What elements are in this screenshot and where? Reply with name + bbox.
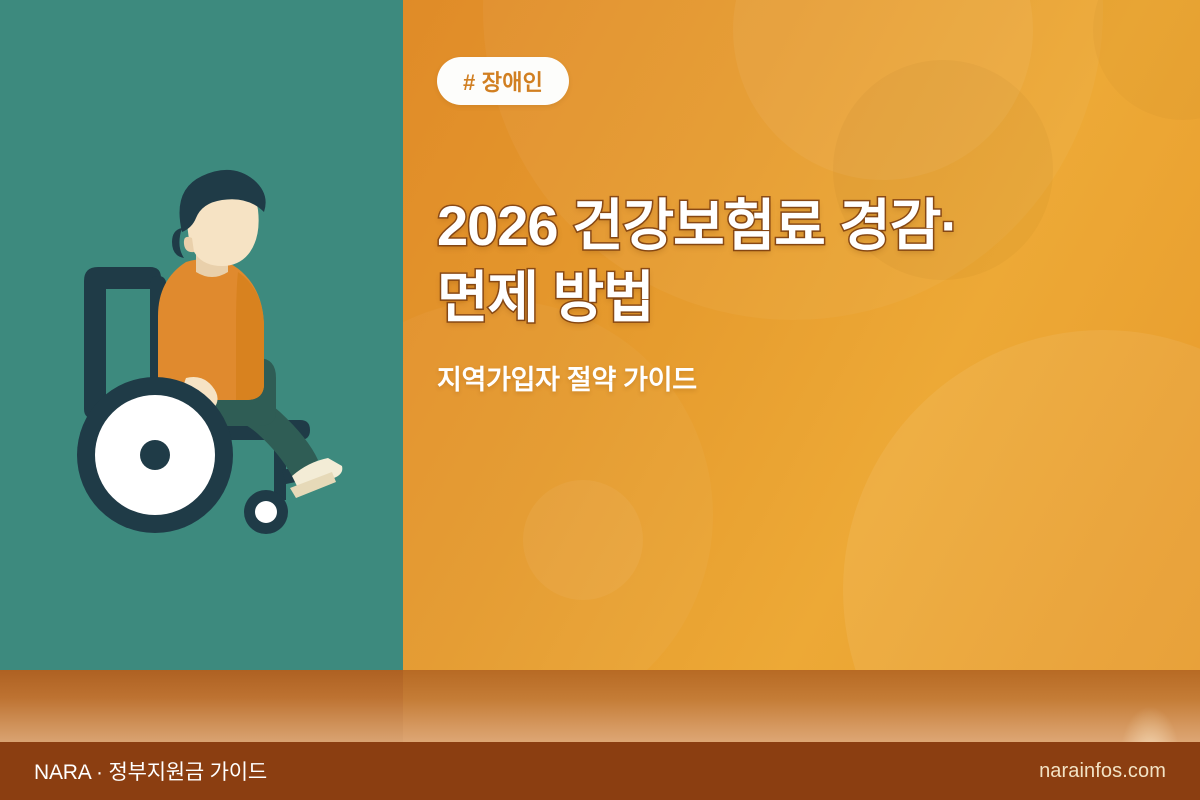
footer-site-url[interactable]: narainfos.com xyxy=(1039,760,1166,783)
bottom-gradient-band-right xyxy=(403,670,1200,742)
page-title: 2026 건강보험료 경감·면제 방법 xyxy=(437,190,997,333)
footer-bar: NARA · 정부지원금 가이드 narainfos.com xyxy=(0,742,1200,800)
card-area: # 장애인 2026 건강보험료 경감·면제 방법 지역가입자 절약 가이드 xyxy=(0,0,1200,742)
person-in-wheelchair-icon xyxy=(0,0,403,670)
page-subtitle: 지역가입자 절약 가이드 xyxy=(437,358,697,397)
content-stack: # 장애인 2026 건강보험료 경감·면제 방법 지역가입자 절약 가이드 xyxy=(437,0,1137,670)
bottom-glow-highlight xyxy=(1120,706,1180,742)
thumbnail-canvas: # 장애인 2026 건강보험료 경감·면제 방법 지역가입자 절약 가이드 N… xyxy=(0,0,1200,800)
illustration-panel xyxy=(0,0,403,670)
category-badge[interactable]: # 장애인 xyxy=(437,57,569,105)
bottom-gradient-band xyxy=(0,670,1200,742)
footer-brand: NARA · 정부지원금 가이드 xyxy=(34,756,267,786)
